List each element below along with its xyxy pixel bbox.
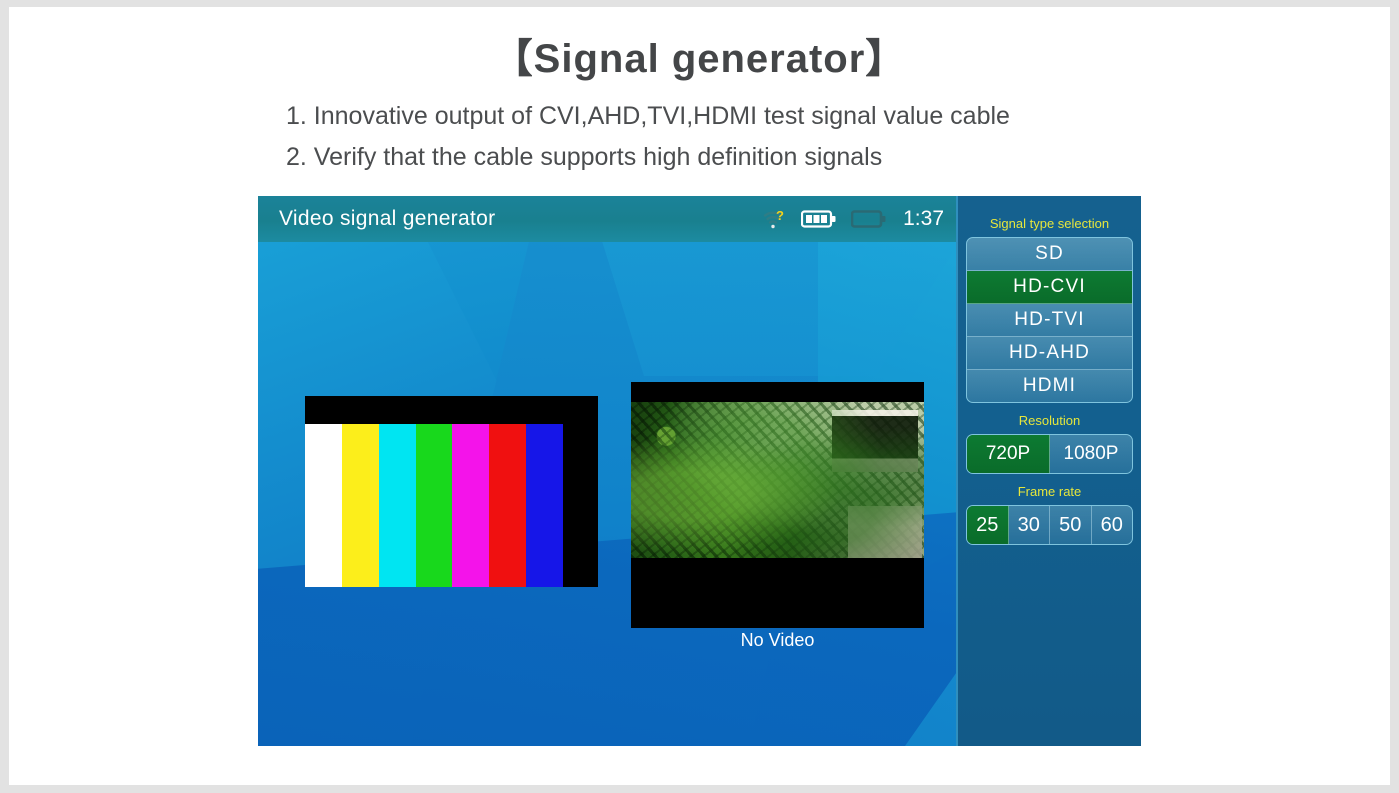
input-video-frame bbox=[631, 402, 924, 558]
signal-type-option-hd-cvi[interactable]: HD-CVI bbox=[967, 271, 1132, 304]
page-border-left bbox=[0, 0, 9, 793]
color-bar-white bbox=[305, 424, 342, 587]
color-bar-blue bbox=[526, 424, 563, 587]
color-bars bbox=[305, 424, 563, 587]
slide-page: 【Signal generator】 1. Innovative output … bbox=[0, 0, 1399, 793]
signal-type-title: Signal type selection bbox=[958, 216, 1141, 231]
color-bar-red bbox=[489, 424, 526, 587]
resolution-selector: 720P 1080P bbox=[966, 434, 1133, 474]
color-bar-magenta bbox=[452, 424, 489, 587]
resolution-option-1080p[interactable]: 1080P bbox=[1050, 435, 1132, 473]
frame-rate-selector: 25 30 50 60 bbox=[966, 505, 1133, 545]
page-border-bottom bbox=[0, 785, 1399, 793]
page-border-right bbox=[1390, 0, 1399, 793]
signal-type-list: SD HD-CVI HD-TVI HD-AHD HDMI bbox=[966, 237, 1133, 403]
titlebar: Video signal generator ? bbox=[258, 196, 958, 242]
frame-rate-title: Frame rate bbox=[958, 484, 1141, 499]
bullet-list: 1. Innovative output of CVI,AHD,TVI,HDMI… bbox=[286, 96, 1186, 178]
resolution-option-720p[interactable]: 720P bbox=[967, 435, 1050, 473]
frame-rate-option-60[interactable]: 60 bbox=[1092, 506, 1133, 544]
color-bar-green bbox=[416, 424, 453, 587]
clock-label: 1:37 bbox=[903, 207, 944, 231]
page-title: 【Signal generator】 bbox=[0, 26, 1399, 84]
bullet-item-2: 2. Verify that the cable supports high d… bbox=[286, 137, 1186, 178]
input-video-status: No Video bbox=[631, 630, 924, 651]
frame-rate-option-25[interactable]: 25 bbox=[967, 506, 1009, 544]
battery-empty-icon[interactable] bbox=[851, 209, 887, 229]
foliage-texture-front bbox=[631, 402, 924, 558]
device-screen: Video signal generator ? bbox=[258, 196, 1141, 746]
titlebar-title: Video signal generator bbox=[279, 207, 495, 231]
wifi-question-icon[interactable]: ? bbox=[763, 208, 787, 230]
bullet-item-1: 1. Innovative output of CVI,AHD,TVI,HDMI… bbox=[286, 96, 1186, 137]
signal-type-option-hd-tvi[interactable]: HD-TVI bbox=[967, 304, 1132, 337]
frame-rate-option-50[interactable]: 50 bbox=[1050, 506, 1092, 544]
signal-type-option-hdmi[interactable]: HDMI bbox=[967, 370, 1132, 402]
signal-type-option-hd-ahd[interactable]: HD-AHD bbox=[967, 337, 1132, 370]
control-panel: Signal type selection SD HD-CVI HD-TVI H… bbox=[956, 196, 1141, 746]
frame-rate-option-30[interactable]: 30 bbox=[1009, 506, 1051, 544]
input-video-panel[interactable] bbox=[631, 382, 924, 628]
page-border-top bbox=[0, 0, 1399, 7]
color-bar-cyan bbox=[379, 424, 416, 587]
battery-full-icon[interactable] bbox=[801, 209, 837, 229]
color-bar-yellow bbox=[342, 424, 379, 587]
status-area: ? bbox=[763, 196, 950, 242]
svg-text:?: ? bbox=[776, 208, 784, 223]
signal-type-option-sd[interactable]: SD bbox=[967, 238, 1132, 271]
resolution-title: Resolution bbox=[958, 413, 1141, 428]
output-video-panel[interactable] bbox=[305, 396, 598, 587]
